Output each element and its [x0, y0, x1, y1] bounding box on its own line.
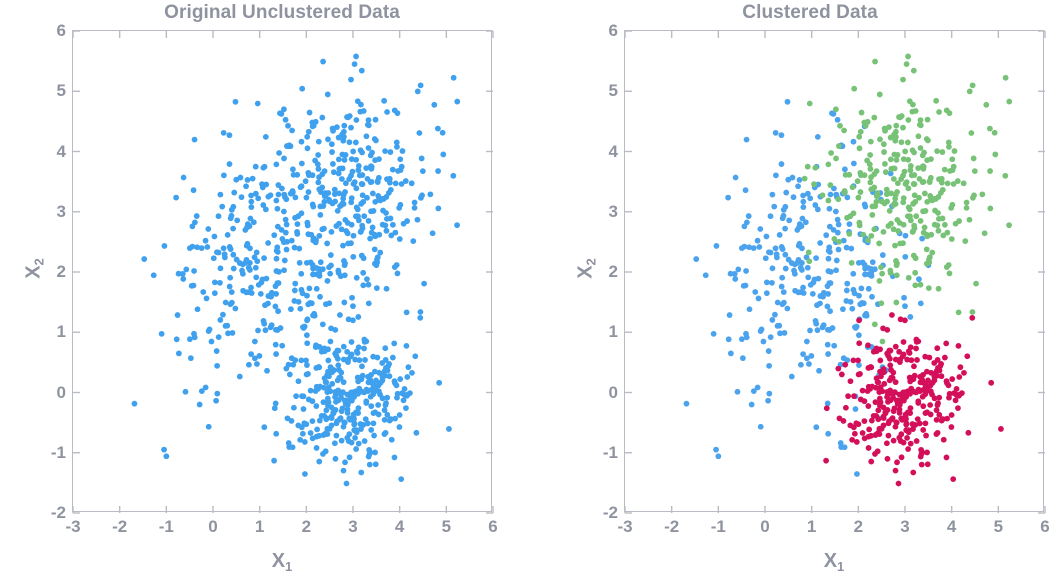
y-tick-label: -1	[51, 443, 66, 463]
figure-root: Original Unclustered Data -2-10123456-3-…	[0, 0, 1056, 585]
scatter-canvas-clustered-data	[625, 31, 1045, 513]
y-tick-label: 0	[609, 383, 618, 403]
y-tick-label: 4	[57, 142, 66, 162]
panel-title-original: Original Unclustered Data	[0, 2, 528, 24]
x-tick-label: 3	[348, 517, 357, 537]
x-tick-label: 5	[442, 517, 451, 537]
x-axis-label-original: X1	[272, 550, 293, 573]
y-tick-label: 5	[57, 81, 66, 101]
x-tick-label: 0	[760, 517, 769, 537]
x-tick-label: 1	[807, 517, 816, 537]
y-axis-label-clustered: X2	[575, 245, 598, 293]
y-axis-label-subscript: 2	[584, 258, 599, 265]
y-tick-label: -2	[603, 503, 618, 523]
panel-original: Original Unclustered Data -2-10123456-3-…	[0, 0, 528, 585]
y-tick-label: 2	[57, 262, 66, 282]
y-axis-label-subscript: 2	[32, 258, 47, 265]
x-tick-label: -3	[617, 517, 632, 537]
data-points	[684, 54, 1013, 487]
y-tick-label: 1	[609, 322, 618, 342]
x-axis-label-clustered: X1	[824, 550, 845, 573]
x-tick-label: -3	[65, 517, 80, 537]
x-tick-label: 3	[900, 517, 909, 537]
y-tick-label: 6	[609, 21, 618, 41]
x-tick-label: 6	[488, 517, 497, 537]
y-tick-label: 1	[57, 322, 66, 342]
y-tick-label: 2	[609, 262, 618, 282]
data-points	[132, 54, 461, 487]
y-tick-label: 4	[609, 142, 618, 162]
y-axis-label-original: X2	[23, 245, 46, 293]
x-tick-label: 0	[208, 517, 217, 537]
y-tick-label: 5	[609, 81, 618, 101]
x-axis-label-subscript: 1	[285, 559, 292, 574]
x-tick-label: 4	[395, 517, 404, 537]
plot-area-clustered: -2-10123456-3-2-10123456	[624, 30, 1044, 512]
x-tick-label: 2	[854, 517, 863, 537]
y-tick-label: 3	[609, 202, 618, 222]
x-tick-label: -2	[664, 517, 679, 537]
x-tick-label: 2	[302, 517, 311, 537]
scatter-canvas-original-unclustered-data	[73, 31, 493, 513]
plot-area-original: -2-10123456-3-2-10123456	[72, 30, 492, 512]
y-tick-label: 6	[57, 21, 66, 41]
x-tick-label: 1	[255, 517, 264, 537]
y-tick-label: 0	[57, 383, 66, 403]
y-tick-label: -1	[603, 443, 618, 463]
x-axis-label-subscript: 1	[837, 559, 844, 574]
x-tick-label: -1	[711, 517, 726, 537]
x-tick-label: 4	[947, 517, 956, 537]
y-tick-label: -2	[51, 503, 66, 523]
x-tick-label: 5	[994, 517, 1003, 537]
panel-title-clustered: Clustered Data	[528, 2, 1056, 24]
x-tick-label: 6	[1040, 517, 1049, 537]
x-tick-label: -1	[159, 517, 174, 537]
y-tick-label: 3	[57, 202, 66, 222]
x-tick-label: -2	[112, 517, 127, 537]
panel-clustered: Clustered Data -2-10123456-3-2-10123456 …	[528, 0, 1056, 585]
